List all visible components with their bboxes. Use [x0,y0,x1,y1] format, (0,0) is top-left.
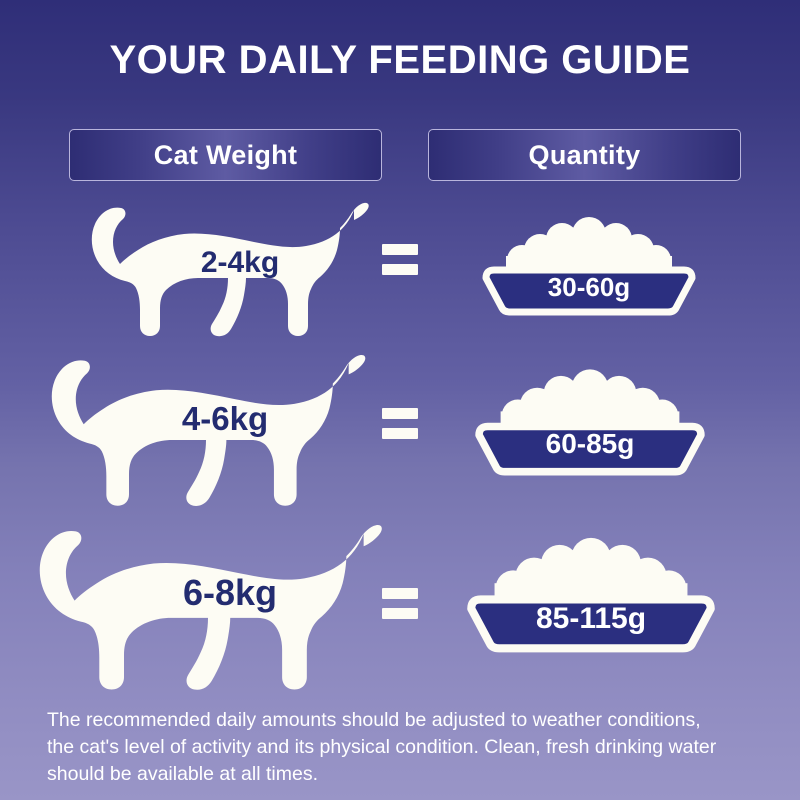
equals-icon [382,588,418,619]
equals-bar-bottom [382,264,418,275]
quantity-value: 60-85g [470,428,710,460]
header-cat-weight: Cat Weight [69,129,382,181]
food-bowl-icon: 60-85g [470,364,710,476]
equals-icon [382,408,418,439]
feeding-guide-poster: YOUR DAILY FEEDING GUIDE Cat Weight Quan… [0,0,800,800]
cat-weight-value: 4-6kg [155,400,295,438]
footer-line-2: the cat's level of activity and its phys… [47,734,759,761]
quantity-value: 85-115g [462,602,720,636]
feeding-row: 2-4kg [0,196,800,336]
equals-bar-bottom [382,608,418,619]
quantity-value: 30-60g [478,272,700,303]
footer-note: The recommended daily amounts should be … [47,707,759,788]
feeding-row: 6-8kg [0,520,800,696]
equals-icon [382,244,418,275]
equals-bar-bottom [382,428,418,439]
cat-weight-value: 2-4kg [180,246,300,280]
footer-line-3: should be available at all times. [47,761,759,788]
food-bowl-icon: 85-115g [462,532,720,653]
equals-bar-top [382,408,418,419]
feeding-row: 4-6kg [0,350,800,508]
cat-weight-value: 6-8kg [150,572,310,614]
header-quantity: Quantity [428,129,741,181]
header-cat-weight-label: Cat Weight [154,140,298,171]
header-quantity-label: Quantity [529,140,641,171]
footer-line-1: The recommended daily amounts should be … [47,707,759,734]
equals-bar-top [382,588,418,599]
page-title: YOUR DAILY FEEDING GUIDE [0,38,800,83]
food-bowl-icon: 30-60g [478,212,700,316]
column-headers: Cat Weight Quantity [0,129,800,183]
equals-bar-top [382,244,418,255]
